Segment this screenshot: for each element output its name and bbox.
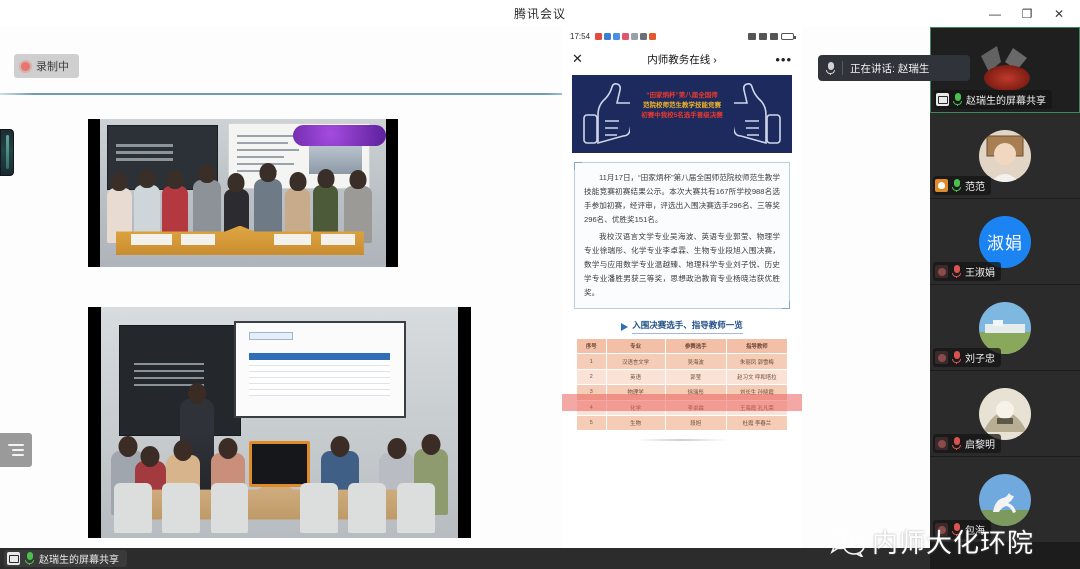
table-header-cell: 序号 (577, 339, 607, 354)
screen-share-icon (7, 552, 20, 565)
list-icon (8, 441, 24, 459)
participant-rail[interactable]: 赵瑞生的屏幕共享 范范 (930, 27, 1080, 569)
wechat-article-nav: ✕ 内师教务在线 › ••• (562, 45, 802, 73)
finalists-table-body: 序号 专业 参赛选手 指导教师 1 汉语言文学 吴海波 朱丽凤 郭雪梅 (577, 339, 788, 431)
participant-tile-qiliming[interactable]: 启黎明 (930, 371, 1080, 457)
participant-tile-fanfan[interactable]: 范范 (930, 113, 1080, 199)
table-row: 1 汉语言文学 吴海波 朱丽凤 郭雪梅 (577, 354, 788, 369)
participant-tile-wangshujuan[interactable]: 淑娟 王淑娟 (930, 199, 1080, 285)
cell-major: 汉语言文学 (606, 354, 665, 369)
table-row: 2 英语 郭莹 赵习文 呼和塔拉 (577, 369, 788, 384)
status-right-icons (748, 33, 794, 40)
participant-label: 王淑娟 (933, 262, 1001, 281)
banner-line-2: 范院校师范生教学技能竞赛 (623, 101, 741, 111)
microphone-icon (953, 93, 962, 106)
screen-share-icon (936, 93, 949, 106)
participant-name: 范范 (965, 178, 985, 193)
maximize-button[interactable]: ❐ (1012, 3, 1042, 25)
battery-icon (781, 33, 794, 40)
user-badge-icon (935, 437, 948, 450)
active-speaker-banner: 正在讲话: 赵瑞生 (818, 55, 970, 81)
close-icon[interactable]: ✕ (572, 51, 583, 67)
microphone-muted-icon (952, 265, 961, 278)
table-header-cell: 参赛选手 (665, 339, 726, 354)
cell-student: 吴海波 (665, 354, 726, 369)
phone-screen-share: 17:54 ✕ 内师教务在线 › (562, 27, 802, 569)
article-section-heading: 入围决赛选手、指导教师一览 (562, 319, 802, 334)
avatar (979, 130, 1031, 182)
recording-badge: 录制中 (14, 54, 79, 78)
participant-label: 启黎明 (933, 434, 1001, 453)
wechat-logo-icon (826, 527, 866, 557)
microphone-muted-icon (952, 351, 961, 364)
cell-index: 2 (577, 369, 607, 384)
article-content: “田家炳杯”第八届全国师 范院校师范生教学技能竞赛 初赛中我校5名选手晋级决赛 … (562, 73, 802, 569)
share-status-chip: 赵瑞生的屏幕共享 (4, 550, 127, 567)
article-footer-rule (636, 439, 728, 441)
triangle-icon (621, 323, 628, 331)
avatar (979, 388, 1031, 440)
minimize-button[interactable]: — (980, 3, 1010, 25)
cell-index: 5 (577, 415, 607, 430)
user-badge-icon (935, 351, 948, 364)
cell-student: 郭莹 (665, 369, 726, 384)
share-owner-label: 赵瑞生的屏幕共享 (39, 551, 119, 566)
window-title: 腾讯会议 (514, 5, 566, 22)
shared-photo-classroom-group (88, 119, 398, 267)
section-title: 入围决赛选手、指导教师一览 (632, 319, 743, 334)
microphone-icon (25, 552, 34, 565)
user-badge-icon (935, 179, 948, 192)
participant-label: 刘子忠 (933, 348, 1001, 367)
more-icon[interactable]: ••• (775, 52, 792, 67)
table-header-row: 序号 专业 参赛选手 指导教师 (577, 339, 788, 354)
content-divider (0, 93, 562, 95)
cell-advisor: 杜霞 李春兰 (726, 415, 787, 430)
meeting-body: 录制中 (0, 27, 1080, 569)
phone-status-bar: 17:54 (562, 27, 802, 45)
avatar: 淑娟 (979, 216, 1031, 268)
window-controls: — ❐ ✕ (980, 0, 1074, 27)
participant-tile-liuzizhong[interactable]: 刘子忠 (930, 285, 1080, 371)
article-paragraph-1: 11月17日，“田家炳杯”第八届全国师范院校师范生教学技能竞赛初赛结果公示。本次… (584, 171, 780, 227)
microphone-icon (952, 179, 961, 192)
recording-dot-icon (21, 62, 30, 71)
banner-line-3: 初赛中我校5名选手晋级决赛 (623, 111, 741, 121)
avatar (979, 474, 1031, 526)
table-row: 5 生物 段旭 杜霞 李春兰 (577, 415, 788, 430)
cell-major: 英语 (606, 369, 665, 384)
thumbs-up-right-icon (734, 81, 786, 147)
list-menu-button[interactable] (0, 433, 32, 467)
table-row-highlight (562, 394, 802, 411)
participant-name: 王淑娟 (965, 264, 995, 279)
participant-name: 刘子忠 (965, 350, 995, 365)
user-badge-icon (935, 265, 948, 278)
article-banner: “田家炳杯”第八届全国师 范院校师范生教学技能竞赛 初赛中我校5名选手晋级决赛 (572, 75, 792, 153)
finalists-table: 序号 专业 参赛选手 指导教师 1 汉语言文学 吴海波 朱丽凤 郭雪梅 (576, 338, 788, 431)
table-header-cell: 专业 (606, 339, 665, 354)
participant-name: 赵瑞生的屏幕共享 (966, 92, 1046, 107)
cell-student: 段旭 (665, 415, 726, 430)
title-bar: 腾讯会议 — ❐ ✕ (0, 0, 1080, 27)
table-header-cell: 指导教师 (726, 339, 787, 354)
account-title[interactable]: 内师教务在线 › (647, 52, 716, 67)
microphone-muted-icon (952, 437, 961, 450)
status-app-icons (595, 33, 656, 40)
banner-line-1: “田家炳杯”第八届全国师 (623, 91, 741, 101)
active-speaker-label: 正在讲话: 赵瑞生 (850, 61, 929, 76)
side-tab-handle[interactable] (0, 129, 14, 176)
cell-advisor: 朱丽凤 郭雪梅 (726, 354, 787, 369)
watermark-text: 内师大化环院 (872, 523, 1034, 560)
cell-index: 1 (577, 354, 607, 369)
participant-name: 启黎明 (965, 436, 995, 451)
tencent-meeting-window: 腾讯会议 — ❐ ✕ 录制中 (0, 0, 1080, 569)
participant-label: 范范 (933, 176, 991, 195)
avatar (979, 302, 1031, 354)
shared-photo-classroom-lecture (88, 307, 471, 538)
cell-advisor: 赵习文 呼和塔拉 (726, 369, 787, 384)
close-button[interactable]: ✕ (1044, 3, 1074, 25)
participant-label: 赵瑞生的屏幕共享 (934, 90, 1052, 109)
avatar-initials: 淑娟 (979, 216, 1031, 268)
article-paragraph-2: 我校汉语言文学专业吴海波、英语专业郭莹、物理学专业徐瑞彤、化学专业李卓霖、生物专… (584, 230, 780, 300)
cell-major: 生物 (606, 415, 665, 430)
microphone-icon (826, 62, 835, 75)
banner-title: “田家炳杯”第八届全国师 范院校师范生教学技能竞赛 初赛中我校5名选手晋级决赛 (623, 91, 741, 121)
wechat-watermark: 内师大化环院 (826, 523, 1034, 560)
shared-screen-area: 录制中 (0, 27, 930, 569)
bottom-share-bar: 赵瑞生的屏幕共享 (0, 548, 930, 569)
status-time: 17:54 (570, 32, 590, 41)
recording-label: 录制中 (36, 58, 69, 74)
article-body-card: 11月17日，“田家炳杯”第八届全国师范院校师范生教学技能竞赛初赛结果公示。本次… (574, 162, 790, 309)
